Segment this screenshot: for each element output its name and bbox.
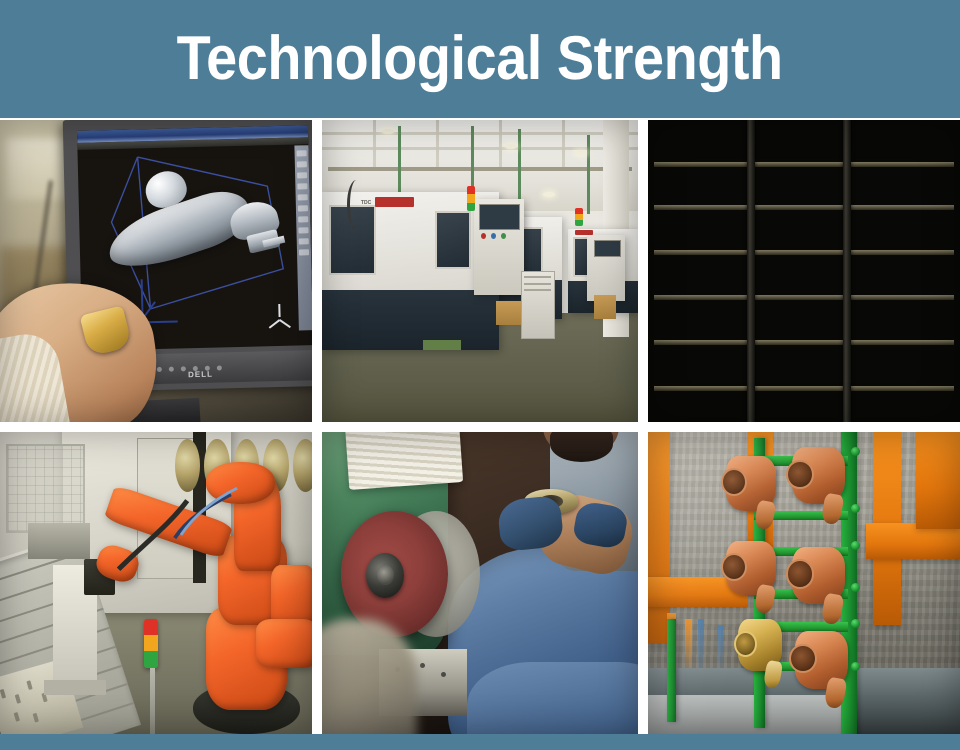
ceiling-rafter (373, 120, 376, 168)
rack-bolt (851, 583, 860, 592)
plating-line-image (648, 432, 960, 734)
robot-arm-image (0, 432, 312, 734)
cardboard-carton (594, 295, 616, 319)
steel-strapping-band (843, 120, 851, 422)
ingot-layer (654, 211, 954, 250)
ceiling-rafter (436, 120, 439, 168)
photo-gallery-grid: DELL (0, 120, 960, 734)
worker-jeans-lower (467, 662, 638, 734)
copper-valve-body (795, 631, 848, 688)
header-banner: Technological Strength (0, 0, 960, 118)
footer-banner (0, 734, 960, 750)
panel-robot-arm[interactable] (0, 432, 312, 734)
polishing-image (322, 432, 638, 734)
stack-light-tower (467, 186, 475, 210)
ingot-layer (654, 123, 954, 162)
blue-drip-streak (717, 625, 723, 673)
chip-extraction-hose (347, 180, 366, 228)
plating-rack-leg (667, 619, 676, 722)
cnc-control-panel-far (587, 235, 625, 301)
cad-view-tripod-icon (263, 304, 294, 333)
rack-bolt (851, 662, 860, 671)
brass-valve-body (738, 619, 782, 670)
ingot-layer (654, 392, 954, 422)
steel-strapping-band (747, 120, 755, 422)
stack-light-tower (144, 619, 158, 667)
panel-cad-design[interactable]: DELL (0, 120, 312, 422)
ingot-layer (654, 165, 954, 204)
tank-rim (648, 695, 841, 734)
tool-cart (521, 271, 555, 339)
orange-frame-left (648, 432, 670, 643)
ingot-layer (654, 301, 954, 340)
paper-stack (345, 432, 463, 490)
copper-valve-body (792, 547, 845, 604)
panel-metal-ingots[interactable] (648, 120, 960, 422)
ceiling-rafter (499, 120, 502, 168)
ingot-layer (654, 347, 954, 386)
robot-cable-harness (0, 432, 312, 734)
copper-valve-body (792, 447, 845, 504)
rack-bolt (851, 447, 860, 456)
rack-bolt (851, 541, 860, 550)
panel-plating-line[interactable] (648, 432, 960, 734)
ceiling-rafter (322, 147, 638, 150)
stack-light-pole (150, 668, 155, 734)
overhead-duct (328, 167, 631, 171)
rack-bolt (851, 619, 860, 628)
ingot-stack (654, 120, 954, 422)
ingot-layer (654, 256, 954, 295)
metal-ingots-image (648, 120, 960, 422)
orange-panel (916, 432, 960, 529)
ceiling-rafter (322, 132, 638, 135)
ceiling-rafter (562, 120, 565, 168)
panel-polishing[interactable] (322, 432, 638, 734)
cnc-workshop-image: TDC (322, 120, 638, 422)
cad-model-faucet (96, 161, 284, 302)
wheel-hub (366, 553, 404, 598)
monitor-brand-label: DELL (187, 370, 212, 380)
cad-design-image: DELL (0, 120, 312, 422)
page-root: Technological Strength (0, 0, 960, 750)
green-pipe (471, 126, 474, 192)
panel-cnc-workshop[interactable]: TDC (322, 120, 638, 422)
green-pipe (398, 126, 401, 198)
copper-valve-body (726, 456, 776, 510)
stack-light-tower (575, 208, 583, 226)
floor-mat (423, 340, 461, 349)
copper-valve-body (726, 541, 776, 595)
cardboard-carton (496, 301, 521, 325)
drip-streak (685, 619, 691, 673)
green-pipe (587, 135, 590, 214)
cnc-control-panel-near (474, 199, 525, 296)
page-title: Technological Strength (177, 28, 783, 90)
